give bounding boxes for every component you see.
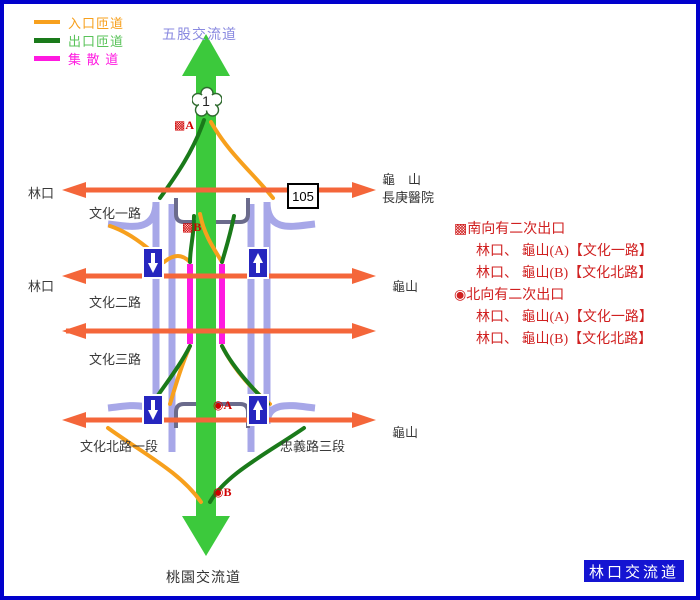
arrow-up-icon (253, 399, 263, 421)
freeway-south-destination-label: 桃園交流道 (166, 570, 241, 585)
note-heading-northbound-text: 北向有二次出口 (466, 288, 564, 303)
note-heading-northbound: ◉北向有二次出口 (454, 285, 694, 307)
road-name-wenhua-2: 文化二路 (89, 292, 141, 311)
square-marker-icon: ▩ (174, 118, 185, 132)
marker-circle-b-text: B (223, 485, 231, 499)
road-name-wenhua-1: 文化一路 (89, 203, 141, 222)
road-name-zhongyi-3: 忠義路三段 (280, 436, 345, 455)
arrow-up-icon (253, 252, 263, 274)
freeway-shield-number: 1 (202, 93, 210, 109)
legend-label-collector: 集 散 道 (68, 49, 119, 68)
marker-square-a: ▩A (174, 118, 194, 133)
road-name-wenhua-3: 文化三路 (89, 349, 141, 368)
road-name-wenhua-north-1: 文化北路一段 (80, 436, 158, 455)
oneway-sign-south-east (247, 394, 269, 426)
interchange-name-badge: 林口交流道 (582, 558, 686, 584)
line-swatch-orange-icon (34, 20, 60, 24)
arrow-down-icon (148, 252, 158, 274)
route-105-number: 105 (292, 189, 314, 204)
arrow-down-icon (148, 399, 158, 421)
provincial-route-shield-105: 105 (287, 183, 319, 209)
note-northbound-line-2: 林口、 龜山(B)【文化北路】 (454, 329, 694, 351)
marker-circle-a: ◉A (213, 398, 232, 413)
line-swatch-magenta-icon (34, 56, 60, 61)
oneway-sign-north-east (247, 247, 269, 279)
marker-square-b-text: B (193, 220, 201, 234)
east-label-wenhua-north-1: 龜山 (392, 422, 418, 441)
east-label-wenhua-1-line2: 長庚醫院 (382, 190, 434, 205)
marker-circle-a-text: A (223, 398, 232, 412)
west-label-wenhua-1: 林口 (28, 183, 54, 202)
marker-circle-b: ◉B (213, 485, 232, 500)
circle-marker-icon: ◉ (454, 288, 466, 303)
east-label-wenhua-2: 龜山 (392, 276, 418, 295)
marker-square-a-text: A (185, 118, 194, 132)
interchange-name-text: 林口交流道 (589, 561, 679, 582)
square-marker-icon: ▩ (454, 222, 467, 237)
legend-item-collector: 集 散 道 (34, 50, 184, 66)
legend-label-entrance-ramp: 入口匝道 (68, 13, 124, 32)
exit-notes-panel: ▩南向有二次出口 林口、 龜山(A)【文化一路】 林口、 龜山(B)【文化北路】… (454, 219, 694, 351)
note-heading-southbound: ▩南向有二次出口 (454, 219, 694, 241)
note-heading-southbound-text: 南向有二次出口 (467, 222, 565, 237)
note-southbound-line-1: 林口、 龜山(A)【文化一路】 (454, 241, 694, 263)
east-label-wenhua-1-line1: 龜 山 (382, 172, 421, 187)
square-marker-icon: ▩ (182, 220, 193, 234)
oneway-sign-south-west (142, 394, 164, 426)
line-swatch-green-icon (34, 38, 60, 43)
legend-label-exit-ramp: 出口匝道 (68, 31, 124, 50)
circle-marker-icon: ◉ (213, 398, 223, 412)
circle-marker-icon: ◉ (213, 485, 223, 499)
freeway-north-destination-label: 五股交流道 (162, 24, 237, 44)
note-northbound-line-1: 林口、 龜山(A)【文化一路】 (454, 307, 694, 329)
oneway-sign-north-west (142, 247, 164, 279)
note-southbound-line-2: 林口、 龜山(B)【文化北路】 (454, 263, 694, 285)
freeway-shield-1: 1 (192, 86, 220, 116)
marker-square-b: ▩B (182, 220, 201, 235)
diagram-frame: 入口匝道 出口匝道 集 散 道 五股交流道 桃園交流道 1 105 (4, 4, 696, 596)
west-label-wenhua-2: 林口 (28, 276, 54, 295)
